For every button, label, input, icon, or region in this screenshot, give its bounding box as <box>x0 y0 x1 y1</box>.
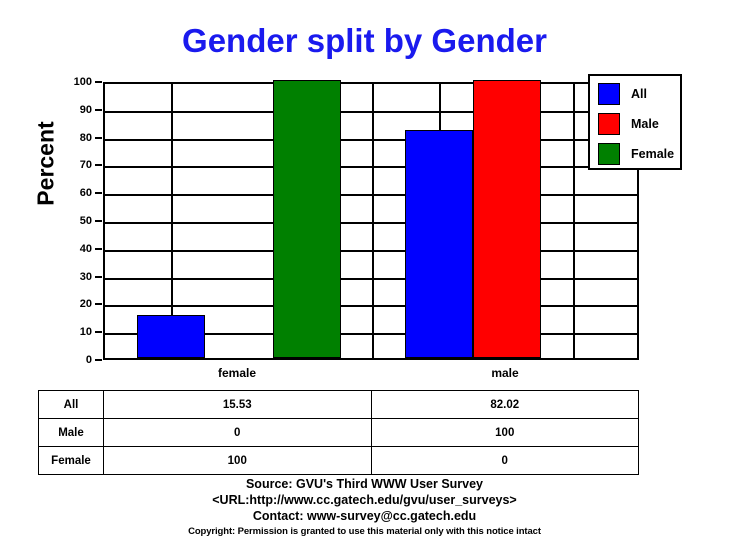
x-axis-label-male: male <box>371 366 639 380</box>
footer-copyright: Copyright: Permission is granted to use … <box>0 524 729 539</box>
gridline <box>105 111 637 113</box>
data-table: All15.5382.02Male0100Female1000 <box>38 390 639 475</box>
y-axis-tick-label: 50 <box>52 216 92 226</box>
x-axis-label-female: female <box>103 366 371 380</box>
y-axis-tick-mark <box>95 220 102 222</box>
legend-swatch-icon <box>598 83 620 105</box>
bar-all-female <box>137 315 205 358</box>
column-gridline <box>573 84 575 358</box>
table-cell: 0 <box>371 447 639 475</box>
gridline <box>105 139 637 141</box>
category-divider <box>372 84 374 358</box>
footer-url: <URL:http://www.cc.gatech.edu/gvu/user_s… <box>0 492 729 508</box>
y-axis-tick-label: 60 <box>52 188 92 198</box>
footer: Source: GVU's Third WWW User Survey <URL… <box>0 476 729 539</box>
y-axis-tick-label: 100 <box>52 77 92 87</box>
table-row: All15.5382.02 <box>39 391 639 419</box>
bar-all-male <box>405 130 473 358</box>
y-axis-tick-label: 90 <box>52 105 92 115</box>
y-axis-tick-mark <box>95 331 102 333</box>
table-cell: 15.53 <box>104 391 372 419</box>
table-row: Male0100 <box>39 419 639 447</box>
legend-item-female[interactable]: Female <box>598 142 674 166</box>
plot-area <box>103 82 639 360</box>
table-row-header: All <box>39 391 104 419</box>
table-row-header: Female <box>39 447 104 475</box>
footer-source: Source: GVU's Third WWW User Survey <box>0 476 729 492</box>
legend-swatch-icon <box>598 143 620 165</box>
chart-figure: Gender split by Gender Percent 100908070… <box>0 0 729 553</box>
gridline <box>105 250 637 252</box>
legend-swatch-icon <box>598 113 620 135</box>
table-cell: 100 <box>104 447 372 475</box>
gridline <box>105 194 637 196</box>
table-cell: 82.02 <box>371 391 639 419</box>
chart-legend: AllMaleFemale <box>588 74 682 170</box>
y-axis-tick-label: 0 <box>52 355 92 365</box>
gridline <box>105 222 637 224</box>
y-axis-tick-mark <box>95 276 102 278</box>
y-axis-tick-mark <box>95 109 102 111</box>
table-row-header: Male <box>39 419 104 447</box>
table-cell: 100 <box>371 419 639 447</box>
y-axis-tick-mark <box>95 137 102 139</box>
y-axis-tick-mark <box>95 192 102 194</box>
gridline <box>105 278 637 280</box>
table-cell: 0 <box>104 419 372 447</box>
y-axis-tick-mark <box>95 248 102 250</box>
table-row: Female1000 <box>39 447 639 475</box>
bar-female-female <box>273 80 341 358</box>
y-axis-tick-label: 40 <box>52 244 92 254</box>
chart-title: Gender split by Gender <box>0 22 729 60</box>
gridline <box>105 305 637 307</box>
y-axis-tick-label: 20 <box>52 299 92 309</box>
y-axis-tick-mark <box>95 303 102 305</box>
y-axis-tick-mark <box>95 164 102 166</box>
legend-item-male[interactable]: Male <box>598 112 659 136</box>
legend-label: Male <box>631 117 659 131</box>
legend-label: Female <box>631 147 674 161</box>
y-axis-tick-label: 70 <box>52 160 92 170</box>
y-axis-tick-mark <box>95 81 102 83</box>
legend-label: All <box>631 87 647 101</box>
bar-male-male <box>473 80 541 358</box>
y-axis-tick-label: 30 <box>52 272 92 282</box>
footer-contact: Contact: www-survey@cc.gatech.edu <box>0 508 729 524</box>
gridline <box>105 166 637 168</box>
y-axis-tick-label: 10 <box>52 327 92 337</box>
y-axis-tick-mark <box>95 359 102 361</box>
legend-item-all[interactable]: All <box>598 82 647 106</box>
y-axis-tick-label: 80 <box>52 133 92 143</box>
